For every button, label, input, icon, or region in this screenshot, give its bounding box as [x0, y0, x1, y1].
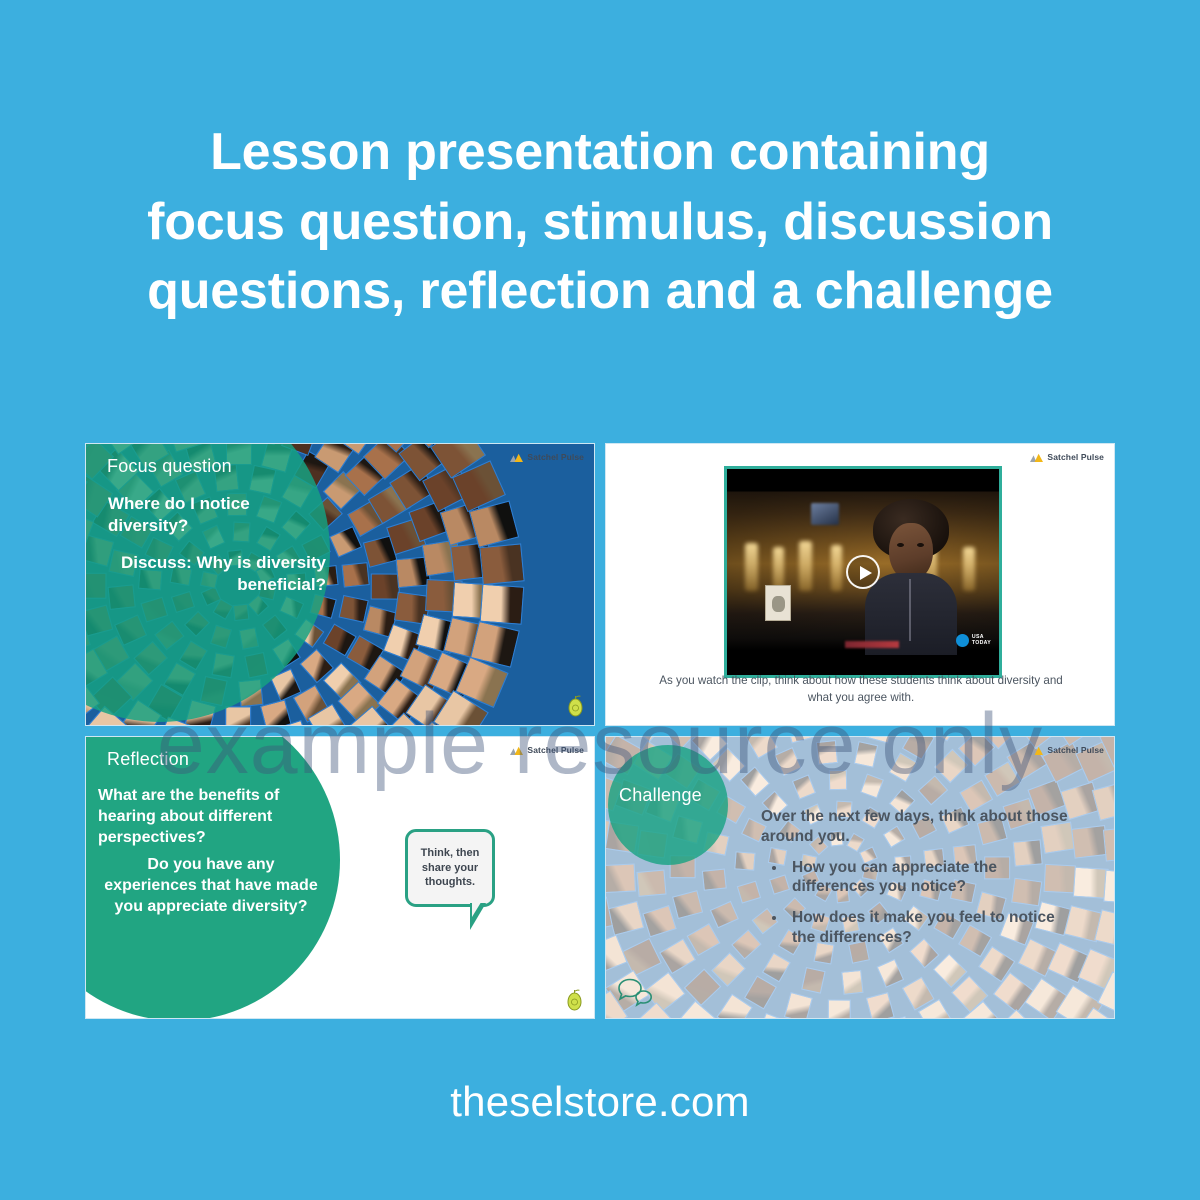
slide-stimulus[interactable]: Satchel Pulse — [605, 443, 1115, 726]
satchel-pulse-logo-text: Satchel Pulse — [527, 452, 584, 462]
slide-label-reflection: Reflection — [107, 749, 189, 770]
usa-today-dot-icon — [956, 634, 969, 647]
page-title-line-2: focus question, stimulus, discussion — [90, 188, 1110, 258]
satchel-pulse-logo: Satchel Pulse — [510, 452, 584, 462]
reflection-question-primary: What are the benefits of hearing about d… — [98, 786, 323, 848]
focus-question-discuss: Discuss: Why is diversity beneficial? — [114, 552, 326, 596]
stimulus-caption: As you watch the clip, think about how t… — [646, 673, 1076, 707]
discussion-bubbles-icon — [616, 978, 654, 1008]
mountain-icon — [510, 746, 523, 755]
page-title: Lesson presentation containing focus que… — [0, 118, 1200, 327]
video-player[interactable]: USA TODAY — [724, 466, 1002, 678]
reflection-question-secondary: Do you have any experiences that have ma… — [100, 855, 322, 917]
page-title-line-1: Lesson presentation containing — [90, 118, 1110, 188]
page-title-line-3: questions, reflection and a challenge — [90, 257, 1110, 327]
slide-label-focus-question: Focus question — [107, 456, 232, 477]
satchel-pulse-logo-text: Satchel Pulse — [527, 745, 584, 755]
usa-today-watermark: USA TODAY — [956, 634, 991, 647]
reflection-callout-text: Think, then share your thoughts. — [408, 832, 492, 904]
play-button-icon[interactable] — [846, 555, 880, 589]
satchel-pulse-logo: Satchel Pulse — [1030, 745, 1104, 755]
focus-question-primary: Where do I notice diversity? — [108, 493, 323, 537]
slide-reflection[interactable]: Reflection What are the benefits of hear… — [85, 736, 595, 1019]
mountain-icon — [1030, 453, 1043, 462]
challenge-body: Over the next few days, think about thos… — [761, 807, 1081, 959]
mountain-icon — [1030, 746, 1043, 755]
mountain-icon — [510, 453, 523, 462]
satchel-pulse-logo-text: Satchel Pulse — [1047, 745, 1104, 755]
footer-site-url: theselstore.com — [0, 1078, 1200, 1126]
pear-icon — [567, 695, 584, 717]
usa-today-line-2: TODAY — [972, 641, 991, 646]
challenge-bullet: How does it make you feel to notice the … — [787, 908, 1081, 948]
slide-label-challenge: Challenge — [619, 785, 702, 806]
challenge-bullet-list: How you can appreciate the differences y… — [761, 858, 1081, 948]
satchel-pulse-logo: Satchel Pulse — [510, 745, 584, 755]
satchel-pulse-logo-text: Satchel Pulse — [1047, 452, 1104, 462]
speech-bubble-icon: Think, then share your thoughts. — [405, 829, 495, 907]
challenge-bullet: How you can appreciate the differences y… — [787, 858, 1081, 898]
speech-bubble-tail — [470, 903, 486, 930]
slide-challenge[interactable]: Challenge Over the next few days, think … — [605, 736, 1115, 1019]
satchel-pulse-logo: Satchel Pulse — [1030, 452, 1104, 462]
pear-icon — [566, 989, 583, 1011]
slide-gallery: Focus question Where do I notice diversi… — [85, 443, 1115, 1026]
slide-focus-question[interactable]: Focus question Where do I notice diversi… — [85, 443, 595, 726]
challenge-lead-text: Over the next few days, think about thos… — [761, 807, 1081, 847]
